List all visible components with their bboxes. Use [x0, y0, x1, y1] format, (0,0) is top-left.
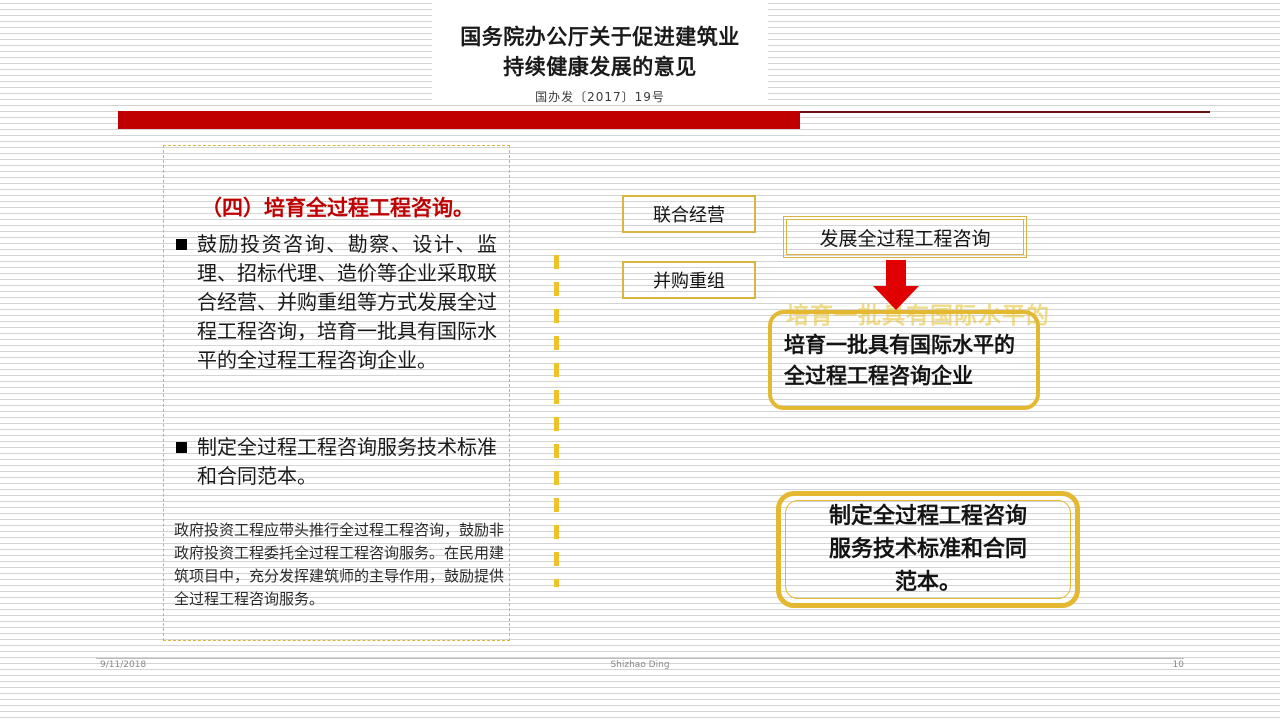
slide-canvas: 国务院办公厅关于促进建筑业 持续健康发展的意见 国办发〔2017〕19号 （四）…: [0, 0, 1280, 720]
footer-author: Shizhao Ding: [0, 660, 1280, 670]
flow-box-standards-contract: 制定全过程工程咨询 服务技术标准和合同 范本。: [776, 491, 1080, 608]
slide-title-plate: 国务院办公厅关于促进建筑业 持续健康发展的意见 国办发〔2017〕19号: [432, 0, 768, 104]
flow-box-standards-contract-inner: 制定全过程工程咨询 服务技术标准和合同 范本。: [785, 500, 1071, 599]
footer-page-number: 10: [1100, 660, 1184, 670]
footer-divider-rule: [96, 658, 1184, 659]
left-content-panel: （四）培育全过程工程咨询。 鼓励投资咨询、勘察、设计、监理、招标代理、造价等企业…: [163, 145, 510, 641]
flow-box-cultivate-enterprises: 培育一批具有国际水平的 全过程工程咨询企业: [768, 310, 1040, 410]
cultivate-line-2: 全过程工程咨询企业: [784, 360, 1015, 391]
standard-line-2: 服务技术标准和合同: [829, 533, 1027, 566]
bullet-item-2-text: 制定全过程工程咨询服务技术标准和合同范本。: [197, 433, 497, 491]
title-line-2: 持续健康发展的意见: [432, 52, 768, 82]
supporting-note-text: 政府投资工程应带头推行全过程工程咨询，鼓励非政府投资工程委托全过程工程咨询服务。…: [174, 519, 504, 611]
bullet-item-2: 制定全过程工程咨询服务技术标准和合同范本。: [176, 433, 504, 491]
square-bullet-icon: [176, 442, 187, 453]
bullet-item-1-text: 鼓励投资咨询、勘察、设计、监理、招标代理、造价等企业采取联合经营、并购重组等方式…: [197, 230, 497, 375]
flow-box-joint-operation: 联合经营: [622, 195, 756, 233]
cultivate-line-1: 培育一批具有国际水平的: [784, 329, 1015, 360]
bullet-item-1: 鼓励投资咨询、勘察、设计、监理、招标代理、造价等企业采取联合经营、并购重组等方式…: [176, 230, 504, 375]
flow-box-merger-reorganization: 并购重组: [622, 261, 756, 299]
title-document-number: 国办发〔2017〕19号: [432, 88, 768, 105]
standard-line-1: 制定全过程工程咨询: [829, 500, 1027, 533]
square-bullet-icon: [176, 239, 187, 250]
section-heading: （四）培育全过程工程咨询。: [164, 192, 511, 222]
vertical-dashed-divider: [554, 255, 559, 587]
header-red-bar: [118, 111, 800, 129]
title-line-1: 国务院办公厅关于促进建筑业: [432, 0, 768, 52]
arrow-down-icon: [871, 260, 921, 310]
standard-line-3: 范本。: [829, 566, 1027, 599]
flow-box-develop-consulting: 发展全过程工程咨询: [786, 219, 1024, 255]
